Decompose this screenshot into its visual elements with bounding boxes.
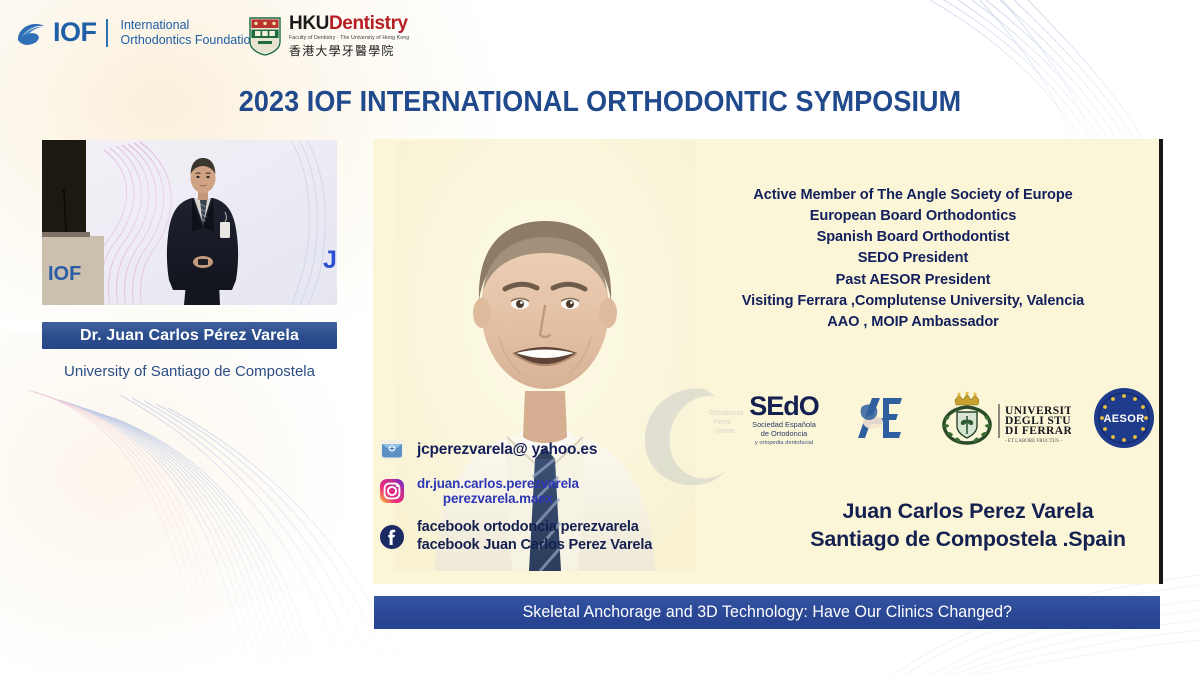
- page-header: IOF International Orthodontics Foundatio…: [0, 0, 1200, 70]
- credential-item: Spanish Board Orthodontist: [673, 227, 1153, 248]
- facebook-profile: facebook Juan Carlos Perez Varela: [417, 537, 652, 555]
- credential-item: SEDO President: [673, 248, 1153, 269]
- presenter-name-block: Juan Carlos Perez Varela Santiago de Com…: [773, 497, 1163, 554]
- hku-faculty-line: Faculty of Dentistry · The University of…: [289, 35, 409, 41]
- lecture-title-bar: Skeletal Anchorage and 3D Technology: Ha…: [374, 596, 1160, 629]
- email-icon[interactable]: [379, 437, 405, 463]
- svg-text:SEdO: SEdO: [749, 391, 819, 421]
- hku-name-part-1: HKU: [289, 13, 329, 34]
- svg-text:DI FERRARA: DI FERRARA: [1005, 425, 1071, 437]
- iof-name-line-2: Orthodontics Foundation: [121, 33, 258, 48]
- stage-photo: IOF J: [42, 140, 337, 305]
- iof-swoosh-icon: [16, 20, 46, 46]
- iof-divider: [106, 19, 108, 47]
- svg-text:y ortopedia dentofacial: y ortopedia dentofacial: [755, 440, 813, 446]
- background-warm-glow-mid-left: [0, 330, 360, 675]
- svg-text:Perez: Perez: [713, 419, 732, 426]
- speaker-name: Dr. Juan Carlos Pérez Varela: [80, 327, 299, 345]
- svg-text:de Ortodoncia: de Ortodoncia: [761, 429, 808, 438]
- hku-name-part-2: Dentistry: [329, 13, 408, 34]
- hku-name-chinese: 香港大學牙醫學院: [289, 42, 409, 59]
- hku-crest-icon: [248, 16, 282, 56]
- universita-ferrara-logo: UNIVERSITÀ DEGLI STUDI DI FERRARA - ET L…: [931, 390, 1071, 446]
- symposium-title: 2023 IOF INTERNATIONAL ORTHODONTIC SYMPO…: [42, 86, 1158, 119]
- instagram-handle: dr.juan.carlos.perezvarela: [417, 476, 579, 491]
- credential-item: AAO , MOIP Ambassador: [673, 312, 1153, 333]
- lecture-title: Skeletal Anchorage and 3D Technology: Ha…: [522, 603, 1011, 622]
- svg-text:J: J: [323, 246, 337, 274]
- slide-right-edge: [1159, 139, 1163, 584]
- hku-name: HKUDentistry: [289, 14, 409, 34]
- svg-text:AESOR: AESOR: [1103, 413, 1144, 425]
- credential-item: Active Member of The Angle Society of Eu…: [673, 185, 1153, 206]
- svg-text:- ET LABORE FRUCTUS -: - ET LABORE FRUCTUS -: [1005, 439, 1062, 444]
- credentials-list: Active Member of The Angle Society of Eu…: [673, 185, 1153, 333]
- iof-acronym: IOF: [53, 19, 97, 46]
- instagram-text: dr.juan.carlos.perezvarela perezvarela.m…: [417, 476, 579, 506]
- speaker-stage-thumbnail: IOF J: [42, 140, 337, 305]
- credential-item: Visiting Ferrara ,Complutense University…: [673, 291, 1153, 312]
- contact-row-email[interactable]: jcperezvarela@ yahoo.es: [379, 437, 719, 463]
- presenter-location: Santiago de Compostela .Spain: [773, 525, 1163, 553]
- speaker-name-bar: Dr. Juan Carlos Pérez Varela: [42, 322, 337, 349]
- svg-text:Varela: Varela: [715, 428, 735, 435]
- presentation-screen: IOF International Orthodontics Foundatio…: [0, 0, 1200, 675]
- credential-item: Past AESOR President: [673, 270, 1153, 291]
- instagram-icon[interactable]: [379, 478, 405, 504]
- hku-wordmark: HKUDentistry Faculty of Dentistry · The …: [289, 14, 409, 59]
- institution-logos: SEdO Sociedad Española de Ortodoncia y o…: [741, 387, 1161, 449]
- presentation-slide: Active Member of The Angle Society of Eu…: [373, 139, 1163, 584]
- svg-text:IOF: IOF: [48, 263, 81, 285]
- iof-logo: IOF International Orthodontics Foundatio…: [16, 18, 257, 48]
- contact-row-instagram[interactable]: dr.juan.carlos.perezvarela perezvarela.m…: [379, 476, 719, 506]
- hku-dentistry-logo: HKUDentistry Faculty of Dentistry · The …: [248, 14, 409, 59]
- email-address: jcperezvarela@ yahoo.es: [417, 441, 597, 459]
- svg-text:Sociedad Española: Sociedad Española: [752, 420, 817, 429]
- sedo-logo: SEdO Sociedad Española de Ortodoncia y o…: [741, 389, 827, 447]
- instagram-handle: perezvarela.maex: [417, 491, 579, 506]
- contact-details: jcperezvarela@ yahoo.es: [379, 437, 719, 568]
- iof-name-line-1: International: [121, 18, 258, 33]
- facebook-icon[interactable]: [379, 524, 405, 550]
- presenter-name: Juan Carlos Perez Varela: [773, 497, 1163, 525]
- contact-row-facebook[interactable]: facebook ortodoncia perezvarela facebook…: [379, 519, 719, 555]
- email-text: jcperezvarela@ yahoo.es: [417, 441, 597, 459]
- facebook-page: facebook ortodoncia perezvarela: [417, 519, 652, 537]
- angle-society-europe-logo: [849, 392, 909, 444]
- credential-item: European Board Orthodontics: [673, 206, 1153, 227]
- aesor-logo: AESOR: [1093, 387, 1155, 449]
- svg-text:Ortodoncia: Ortodoncia: [709, 410, 743, 417]
- speaker-affiliation: University of Santiago de Compostela: [42, 363, 337, 380]
- iof-full-name: International Orthodontics Foundation: [121, 18, 258, 48]
- speaker-panel: IOF J: [42, 140, 337, 380]
- facebook-text: facebook ortodoncia perezvarela facebook…: [417, 519, 652, 555]
